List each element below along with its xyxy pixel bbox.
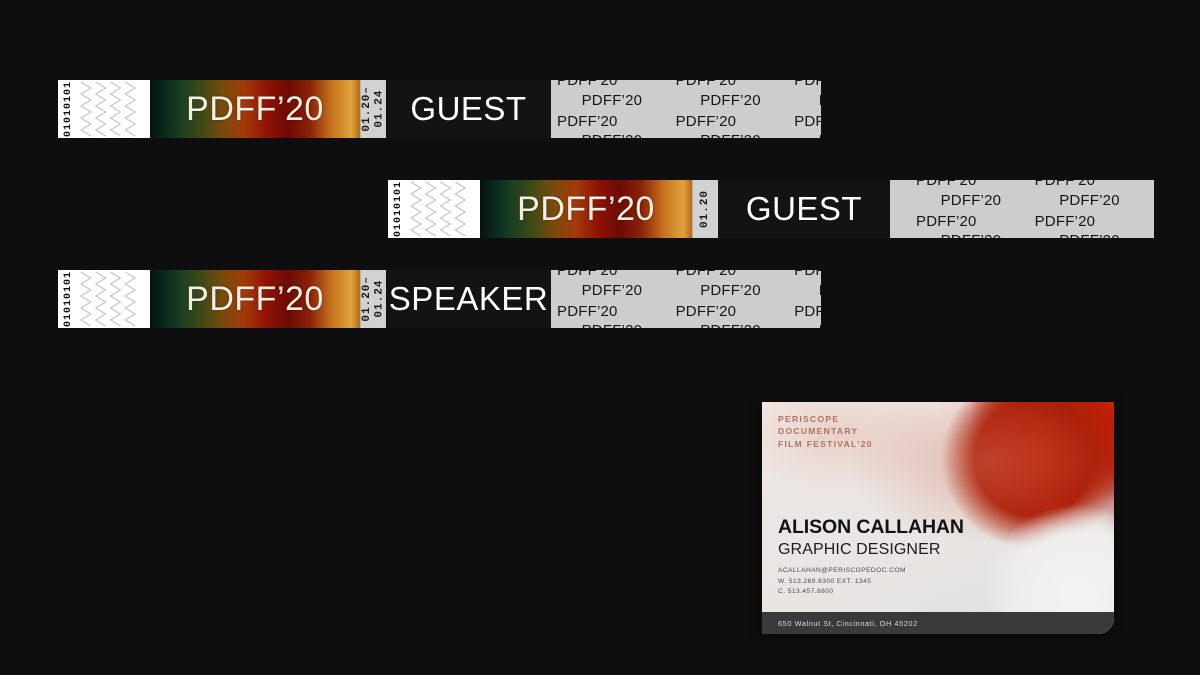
tail-pattern-text: PDFF’20 [557, 303, 618, 320]
card-white-paper-area [973, 491, 1114, 612]
tail-pattern-text: PDFF’20 [676, 270, 737, 279]
credential-stub: 01010101 [388, 180, 480, 238]
tail-pattern-text: PDFF’20 [1153, 180, 1154, 189]
tail-pattern-text: PDFF’20 [1035, 213, 1096, 230]
credential-role-label: GUEST [410, 90, 526, 128]
credential-speaker: 01010101 PDFF’20 01.20– 01.24 SPEAKER PD… [58, 270, 821, 328]
credential-dates: 01.20– 01.24 [361, 86, 386, 132]
tail-pattern-text: PDFF’20 [1059, 232, 1120, 238]
tail-pattern-text: PDFF’20 [582, 322, 643, 328]
business-card: PERISCOPE DOCUMENTARY FILM FESTIVAL’20 A… [762, 402, 1114, 634]
tail-pattern-text: PDFF’20 [819, 92, 821, 109]
card-phone-work: W. 513.269.6300 EXT. 1345 [778, 577, 964, 588]
credential-date-chip: 01.20– 01.24 [360, 270, 386, 328]
tail-pattern-text: PDFF’20 [676, 113, 737, 130]
card-email: ACALLAHAN@PERISCOPEDOC.COM [778, 566, 964, 577]
tail-pattern-text: PDFF’20 [557, 270, 618, 279]
credential-role-block: SPEAKER [386, 270, 551, 328]
tail-pattern-text: PDFF’20 [700, 322, 761, 328]
wordmark-pdff: PDFF’20 [186, 90, 324, 129]
zigzag-pattern-icon [76, 270, 150, 328]
credential-guest-short: 01010101 PDFF’20 01.20 GUEST PDFF’20 PD [388, 180, 1154, 238]
card-person-title: GRAPHIC DESIGNER [778, 540, 964, 559]
card-address: 650 Walnut St, Cincinnati, OH 45202 [778, 619, 918, 628]
credential-role-label: SPEAKER [389, 280, 548, 318]
credential-stub: 01010101 [58, 80, 150, 138]
card-address-footer: 650 Walnut St, Cincinnati, OH 45202 [762, 612, 1114, 634]
tail-pattern-text: PDFF’20 [582, 132, 643, 138]
credential-date-chip: 01.20 [692, 180, 718, 238]
tail-pattern-text: PDFF’20 [557, 80, 618, 89]
credential-guest-long: 01010101 PDFF’20 01.20– 01.24 GUEST PDFF… [58, 80, 821, 138]
card-identity-block: ALISON CALLAHAN GRAPHIC DESIGNER ACALLAH… [778, 517, 964, 598]
tail-pattern-text: PDFF’20 [582, 92, 643, 109]
card-logo-line: DOCUMENTARY [778, 425, 873, 437]
tail-pattern-text: PDFF’20 [819, 282, 821, 299]
tail-pattern-text: PDFF’20 [1059, 192, 1120, 209]
tail-pattern-text: PDFF’20 [916, 180, 977, 189]
stub-binary-code: 01010101 [64, 81, 74, 137]
card-logo-line: PERISCOPE [778, 413, 873, 425]
credential-role-label: GUEST [746, 190, 862, 228]
design-presentation-canvas: 01010101 PDFF’20 01.20– 01.24 GUEST PDFF… [0, 0, 1200, 675]
card-logo-line: FILM FESTIVAL’20 [778, 438, 873, 450]
tail-pattern-text: PDFF’20 [819, 322, 821, 328]
credential-pattern-tail: PDFF’20 PDFF’20 PDFF’20 PDFF’20 PDFF’20 … [890, 180, 1154, 238]
credential-dates: 01.20 [699, 190, 712, 228]
tail-pattern-text: PDFF’20 [700, 92, 761, 109]
card-phone-cell: C. 513.457.8800 [778, 587, 964, 598]
credential-gradient-band: PDFF’20 [150, 270, 360, 328]
card-contact-details: ACALLAHAN@PERISCOPEDOC.COM W. 513.269.63… [778, 566, 964, 598]
tail-pattern-text: PDFF’20 [794, 303, 821, 320]
tail-pattern-text: PDFF’20 [1153, 213, 1154, 230]
zigzag-pattern-icon [76, 80, 150, 138]
credential-dates: 01.20– 01.24 [361, 276, 386, 322]
wordmark-pdff: PDFF’20 [186, 280, 324, 319]
credential-stub: 01010101 [58, 270, 150, 328]
tail-pattern-text: PDFF’20 [941, 192, 1002, 209]
zigzag-pattern-icon [406, 180, 480, 238]
credential-gradient-band: PDFF’20 [480, 180, 692, 238]
credential-date-chip: 01.20– 01.24 [360, 80, 386, 138]
tail-pattern-text: PDFF’20 [794, 270, 821, 279]
tail-pattern-text: PDFF’20 [676, 303, 737, 320]
tail-pattern-text: PDFF’20 [794, 80, 821, 89]
tail-pattern-text: PDFF’20 [794, 113, 821, 130]
tail-pattern-text: PDFF’20 [700, 132, 761, 138]
tail-pattern-text: PDFF’20 [700, 282, 761, 299]
tail-pattern-text: PDFF’20 [1035, 180, 1096, 189]
tail-pattern-text: PDFF’20 [582, 282, 643, 299]
credential-gradient-band: PDFF’20 [150, 80, 360, 138]
stub-binary-code: 01010101 [394, 181, 404, 237]
tail-pattern-text: PDFF’20 [941, 232, 1002, 238]
credential-role-block: GUEST [718, 180, 890, 238]
card-person-name: ALISON CALLAHAN [778, 517, 964, 539]
tail-pattern-text: PDFF’20 [916, 213, 977, 230]
card-festival-logo: PERISCOPE DOCUMENTARY FILM FESTIVAL’20 [778, 413, 873, 450]
tail-pattern-text: PDFF’20 [819, 132, 821, 138]
tail-pattern-text: PDFF’20 [676, 80, 737, 89]
credential-role-block: GUEST [386, 80, 551, 138]
credential-pattern-tail: PDFF’20 PDFF’20 PDFF’20 PDFF’20 PDFF’20 … [551, 80, 821, 138]
credential-pattern-tail: PDFF’20 PDFF’20 PDFF’20 PDFF’20 PDFF’20 … [551, 270, 821, 328]
wordmark-pdff: PDFF’20 [517, 190, 655, 229]
stub-binary-code: 01010101 [64, 271, 74, 327]
tail-pattern-text: PDFF’20 [557, 113, 618, 130]
